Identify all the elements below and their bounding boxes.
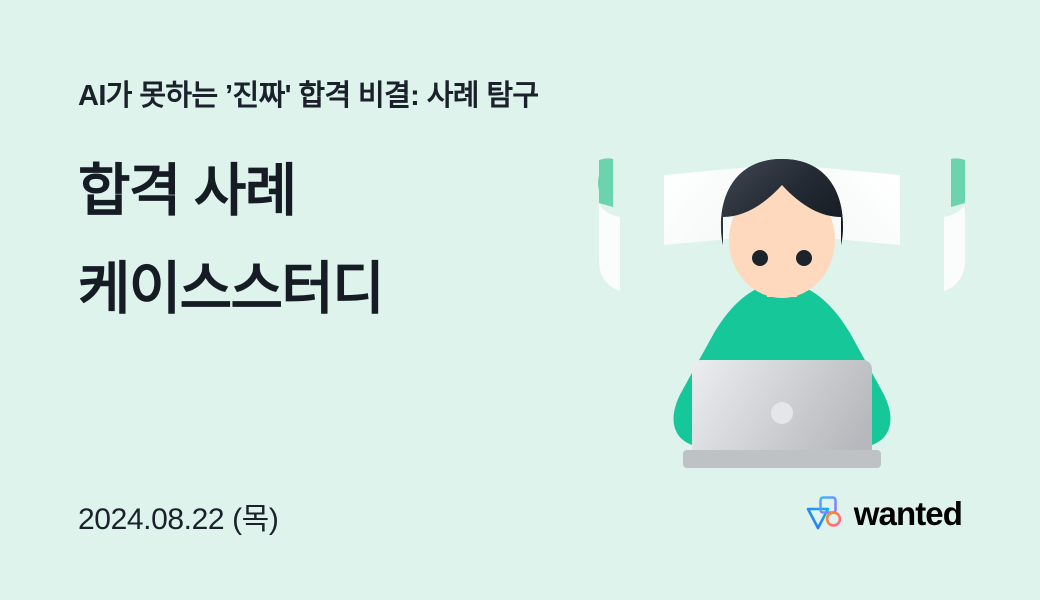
wanted-wordmark: wanted <box>854 497 962 530</box>
headline-line-2: 케이스스터디 <box>78 240 383 338</box>
person-face <box>721 159 843 298</box>
hero-illustration <box>582 155 982 485</box>
headline-line-1: 합격 사례 <box>78 142 383 240</box>
right-eye-icon <box>796 250 812 266</box>
left-side-papers <box>598 158 620 291</box>
right-side-papers <box>944 158 965 291</box>
promo-banner: AI가 못하는 ’진짜' 합격 비결: 사례 탐구 합격 사례 케이스스터디 2… <box>0 0 1040 600</box>
wanted-logo-mark-icon <box>805 493 845 531</box>
banner-headline: 합격 사례 케이스스터디 <box>78 142 383 338</box>
person-at-laptop-illustration <box>582 155 982 485</box>
wanted-logo[interactable]: wanted <box>805 492 962 532</box>
text-column: AI가 못하는 ’진짜' 합격 비결: 사례 탐구 합격 사례 케이스스터디 2… <box>78 0 618 600</box>
laptop <box>683 360 881 468</box>
event-date: 2024.08.22 (목) <box>78 494 278 538</box>
left-eye-icon <box>752 250 768 266</box>
banner-subtitle: AI가 못하는 ’진짜' 합격 비결: 사례 탐구 <box>78 72 538 114</box>
